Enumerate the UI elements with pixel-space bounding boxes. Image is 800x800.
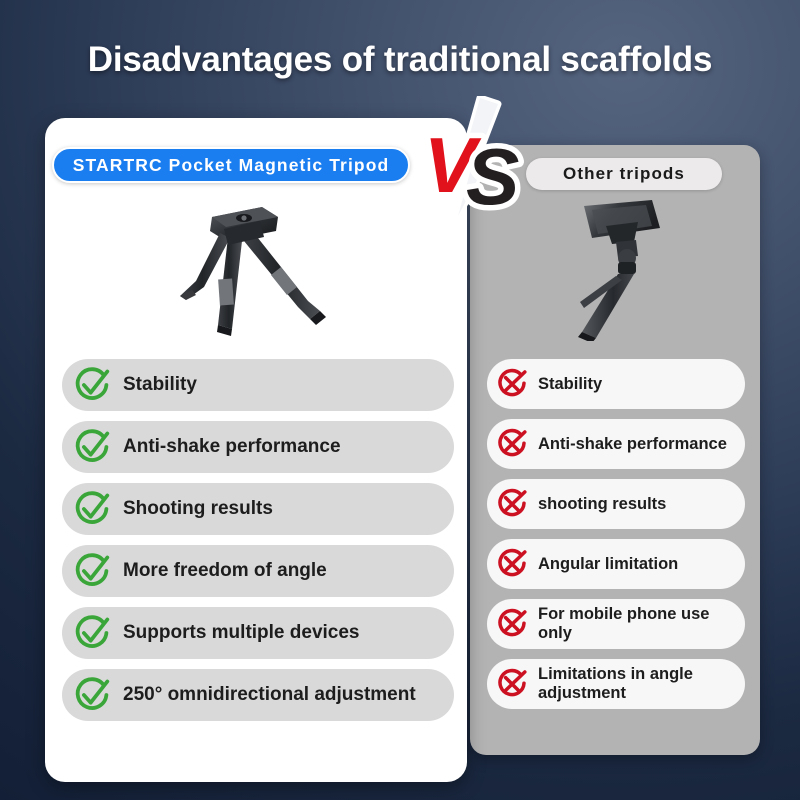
- versus-badge: V V S S: [418, 96, 533, 221]
- list-item-label: Stability: [123, 374, 197, 395]
- comparison-infographic: Disadvantages of traditional scaffolds: [0, 0, 800, 800]
- list-item-label: 250° omnidirectional adjustment: [123, 684, 416, 705]
- startrc-header-badge: STARTRC Pocket Magnetic Tripod: [52, 147, 410, 183]
- selfie-stick-tripod-image: [556, 196, 696, 341]
- list-item-label: Supports multiple devices: [123, 622, 360, 643]
- other-tripods-header-label: Other tripods: [563, 164, 685, 184]
- red-cross-circle-icon: [496, 548, 528, 580]
- list-item: Limitations in angle adjustment: [487, 659, 745, 709]
- vs-s-letter: S: [466, 132, 519, 221]
- other-tripods-header-badge: Other tripods: [526, 158, 722, 190]
- red-cross-circle-icon: [496, 608, 528, 640]
- list-item-label: Limitations in angle adjustment: [538, 665, 733, 702]
- red-cross-circle-icon: [496, 428, 528, 460]
- list-item-label: Anti-shake performance: [538, 435, 727, 454]
- list-item: Supports multiple devices: [62, 607, 454, 659]
- list-item: For mobile phone use only: [487, 599, 745, 649]
- list-item-label: shooting results: [538, 495, 666, 514]
- other-tripods-feature-list: Stability Anti-shake performance sho: [487, 359, 745, 709]
- green-check-circle-icon: [74, 677, 110, 713]
- green-check-circle-icon: [74, 491, 110, 527]
- pocket-tripod-image: [150, 193, 355, 338]
- green-check-circle-icon: [74, 615, 110, 651]
- red-cross-circle-icon: [496, 368, 528, 400]
- green-check-circle-icon: [74, 553, 110, 589]
- list-item-label: Angular limitation: [538, 555, 678, 574]
- list-item: Stability: [62, 359, 454, 411]
- list-item: Shooting results: [62, 483, 454, 535]
- page-title: Disadvantages of traditional scaffolds: [0, 40, 800, 80]
- red-cross-circle-icon: [496, 488, 528, 520]
- list-item-label: Stability: [538, 375, 602, 394]
- startrc-header-label: STARTRC Pocket Magnetic Tripod: [73, 155, 390, 176]
- list-item: Stability: [487, 359, 745, 409]
- list-item: More freedom of angle: [62, 545, 454, 597]
- list-item: Angular limitation: [487, 539, 745, 589]
- green-check-circle-icon: [74, 429, 110, 465]
- list-item: 250° omnidirectional adjustment: [62, 669, 454, 721]
- list-item-label: More freedom of angle: [123, 560, 327, 581]
- list-item-label: Anti-shake performance: [123, 436, 341, 457]
- green-check-circle-icon: [74, 367, 110, 403]
- list-item-label: For mobile phone use only: [538, 605, 733, 642]
- list-item: Anti-shake performance: [487, 419, 745, 469]
- startrc-feature-list: Stability Anti-shake performance Shootin…: [62, 359, 454, 721]
- red-cross-circle-icon: [496, 668, 528, 700]
- list-item: shooting results: [487, 479, 745, 529]
- list-item: Anti-shake performance: [62, 421, 454, 473]
- list-item-label: Shooting results: [123, 498, 273, 519]
